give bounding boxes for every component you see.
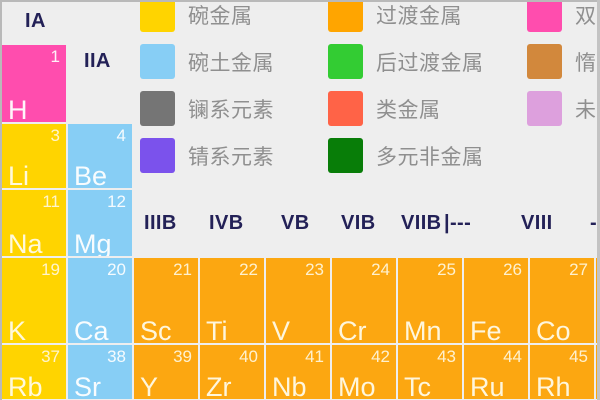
legend-label: 镧系元素 [188, 94, 274, 124]
element-atomic-number: 11 [42, 192, 60, 212]
legend-item: 碗土金属 [140, 44, 274, 79]
element-cell-nb[interactable]: 41Nb [266, 345, 330, 399]
legend-color-swatch [140, 0, 175, 32]
element-symbol: Mo [338, 372, 376, 399]
element-cell-co[interactable]: 27Co [530, 258, 594, 343]
element-symbol: Mg [74, 229, 112, 256]
legend-item: 碗金属 [140, 0, 253, 32]
element-atomic-number: 25 [437, 260, 456, 280]
element-cell-fe[interactable]: 26Fe [464, 258, 528, 343]
legend-color-swatch [527, 44, 562, 79]
legend-label: 双 [575, 0, 597, 30]
element-atomic-number: 37 [41, 347, 60, 367]
element-cell-zr[interactable]: 40Zr [200, 345, 264, 399]
legend-color-swatch [328, 44, 363, 79]
element-cell-mg[interactable]: 12Mg [68, 190, 132, 256]
element-cell-rh[interactable]: 45Rh [530, 345, 594, 399]
element-symbol: Cr [338, 316, 367, 343]
element-cell-pd[interactable]: 46Pd [596, 345, 600, 399]
legend-color-swatch [140, 138, 175, 173]
element-cell-na[interactable]: 11Na [2, 190, 66, 256]
group-label-IIIB: IIIB [144, 212, 177, 235]
element-symbol: Sr [74, 372, 101, 399]
element-cell-ti[interactable]: 22Ti [200, 258, 264, 343]
element-atomic-number: 44 [503, 347, 522, 367]
element-symbol: Na [8, 229, 43, 256]
legend-item: 未 [527, 91, 597, 126]
legend-label: 锖系元素 [188, 141, 274, 171]
legend-label: 多元非金属 [376, 141, 484, 171]
element-symbol: Sc [140, 316, 172, 343]
element-atomic-number: 26 [503, 260, 522, 280]
legend-color-swatch [328, 138, 363, 173]
category-legend: 碗金属碗土金属镧系元素锖系元素过渡金属后过渡金属类金属多元非金属双惰未 [0, 0, 600, 192]
legend-label: 后过渡金属 [376, 47, 484, 77]
element-cell-rb[interactable]: 37Rb [2, 345, 66, 399]
element-cell-ca[interactable]: 20Ca [68, 258, 132, 343]
legend-color-swatch [328, 0, 363, 32]
element-symbol: Ru [470, 372, 505, 399]
legend-color-swatch [140, 91, 175, 126]
element-atomic-number: 43 [437, 347, 456, 367]
element-atomic-number: 24 [371, 260, 390, 280]
element-atomic-number: 12 [107, 192, 126, 212]
element-symbol: Tc [404, 372, 431, 399]
element-atomic-number: 38 [107, 347, 126, 367]
element-atomic-number: 45 [569, 347, 588, 367]
element-symbol: Fe [470, 316, 502, 343]
legend-label: 碗土金属 [188, 47, 274, 77]
legend-label: 过渡金属 [376, 0, 462, 30]
periodic-table-screenshot: 1H3Li4Be11Na12Mg19K20Ca21Sc22Ti23V24Cr25… [0, 0, 600, 400]
element-symbol: V [272, 316, 290, 343]
element-symbol: Y [140, 372, 158, 399]
element-cell-cr[interactable]: 24Cr [332, 258, 396, 343]
element-symbol: K [8, 316, 26, 343]
element-atomic-number: 19 [41, 260, 60, 280]
legend-item: 镧系元素 [140, 91, 274, 126]
element-symbol: Rh [536, 372, 571, 399]
element-atomic-number: 27 [569, 260, 588, 280]
legend-item: 多元非金属 [328, 138, 484, 173]
legend-color-swatch [328, 91, 363, 126]
legend-label: 类金属 [376, 94, 441, 124]
element-cell-sc[interactable]: 21Sc [134, 258, 198, 343]
element-atomic-number: 23 [305, 260, 324, 280]
group-label-VB: VB [281, 212, 310, 235]
group-label-VIIB: VIIB [401, 212, 442, 235]
element-cell-ni[interactable]: 28Ni [596, 258, 600, 343]
group-label-IVB: IVB [209, 212, 244, 235]
element-atomic-number: 39 [173, 347, 192, 367]
legend-label: 碗金属 [188, 0, 253, 30]
legend-item: 后过渡金属 [328, 44, 484, 79]
element-symbol: Ca [74, 316, 109, 343]
element-cell-mo[interactable]: 42Mo [332, 345, 396, 399]
element-cell-ru[interactable]: 44Ru [464, 345, 528, 399]
legend-item: 过渡金属 [328, 0, 462, 32]
legend-item: 惰 [527, 44, 597, 79]
element-cell-k[interactable]: 19K [2, 258, 66, 343]
legend-item: 锖系元素 [140, 138, 274, 173]
group-label-VIB: VIB [341, 212, 376, 235]
element-cell-tc[interactable]: 43Tc [398, 345, 462, 399]
element-symbol: Ti [206, 316, 228, 343]
element-cell-y[interactable]: 39Y [134, 345, 198, 399]
legend-color-swatch [527, 0, 562, 32]
legend-item: 双 [527, 0, 597, 32]
legend-label: 惰 [575, 47, 597, 77]
element-symbol: Mn [404, 316, 442, 343]
group-label-VIII: VIII [521, 212, 553, 235]
legend-item: 类金属 [328, 91, 441, 126]
legend-color-swatch [527, 91, 562, 126]
element-cell-v[interactable]: 23V [266, 258, 330, 343]
element-atomic-number: 21 [173, 260, 192, 280]
element-cell-sr[interactable]: 38Sr [68, 345, 132, 399]
element-symbol: Rb [8, 372, 43, 399]
element-atomic-number: 41 [305, 347, 324, 367]
element-cell-mn[interactable]: 25Mn [398, 258, 462, 343]
group-label-: |--- [444, 212, 471, 235]
element-atomic-number: 40 [239, 347, 258, 367]
legend-color-swatch [140, 44, 175, 79]
legend-label: 未 [575, 94, 597, 124]
element-symbol: Nb [272, 372, 307, 399]
element-atomic-number: 22 [239, 260, 258, 280]
element-symbol: Zr [206, 372, 231, 399]
element-atomic-number: 42 [371, 347, 390, 367]
group-label-: - [590, 212, 597, 235]
element-symbol: Co [536, 316, 571, 343]
element-atomic-number: 20 [107, 260, 126, 280]
